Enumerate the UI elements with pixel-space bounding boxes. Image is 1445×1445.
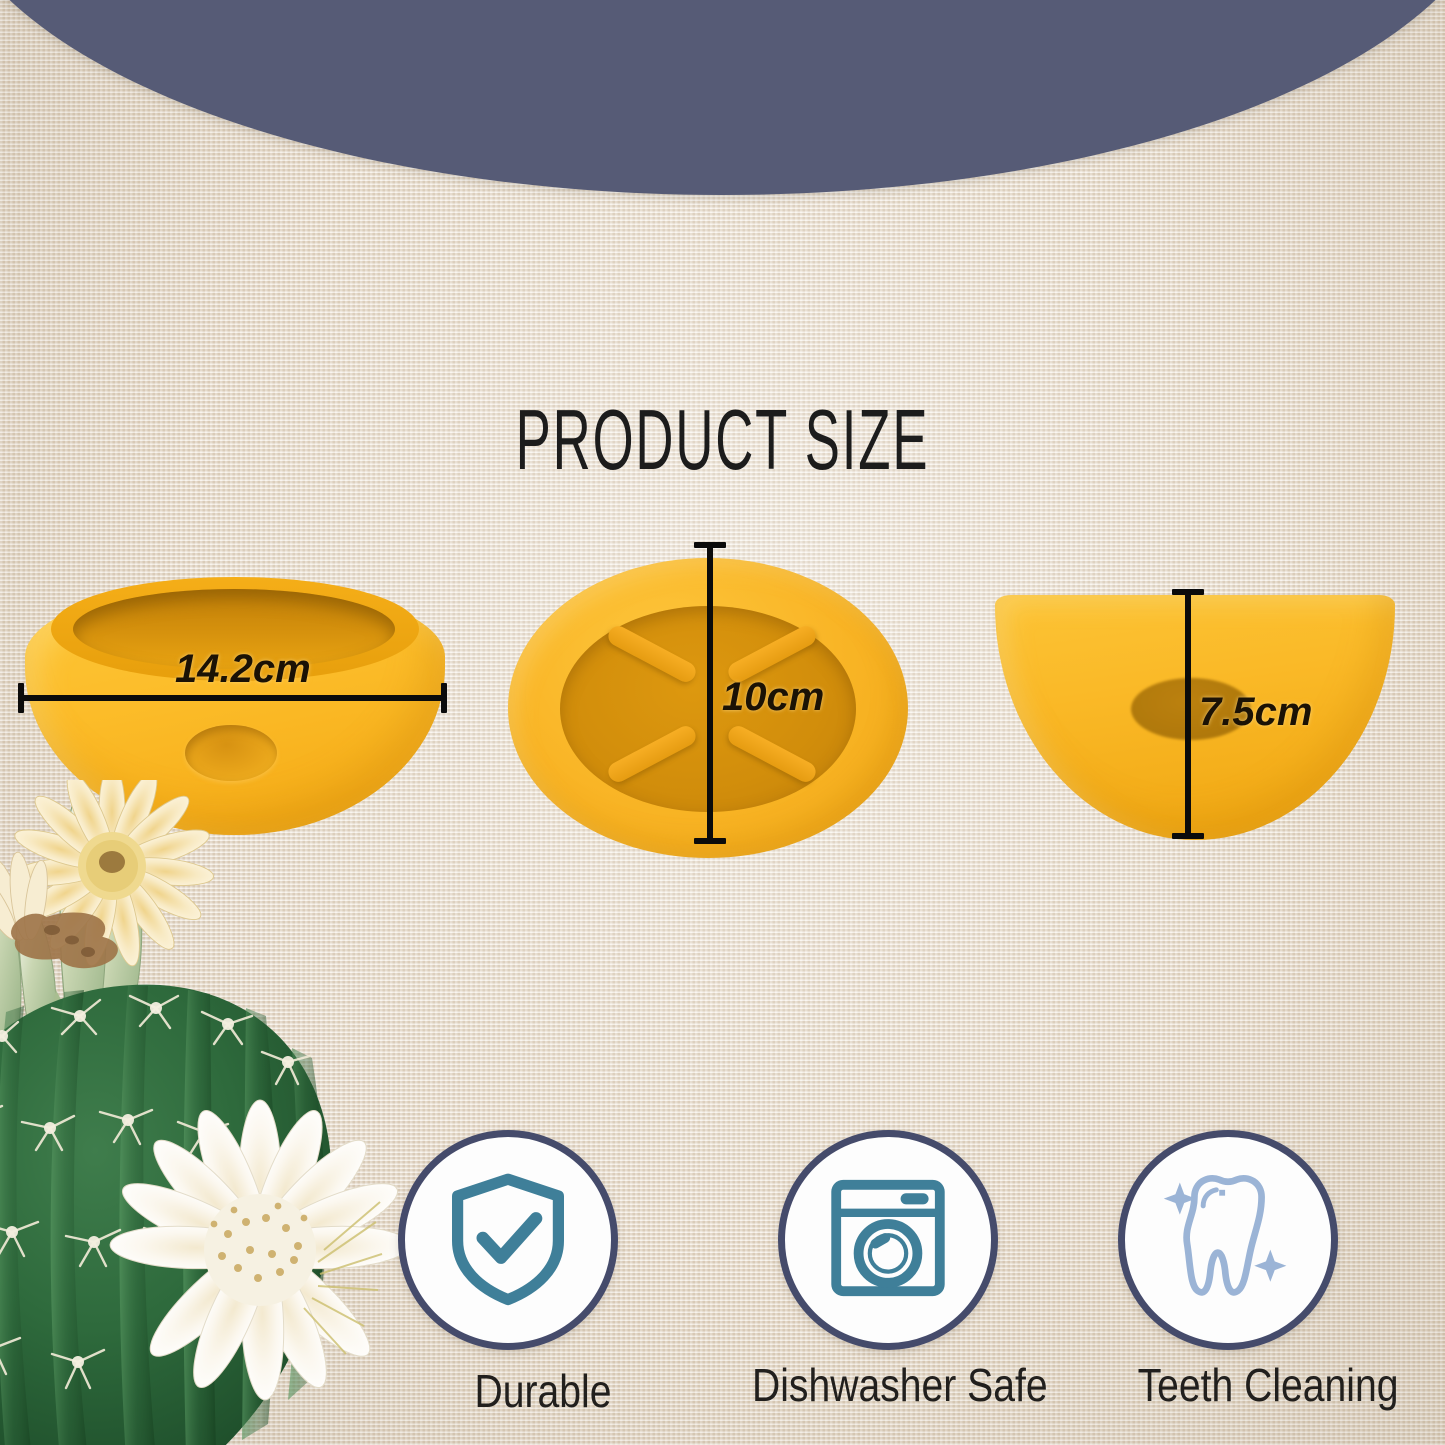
feature-label: Durable (418, 1364, 668, 1418)
dimension-cap-left-icon (18, 683, 24, 713)
tooth-sparkle-icon (1155, 1165, 1301, 1316)
dimension-label: 7.5cm (1199, 690, 1312, 735)
shield-check-icon (438, 1168, 578, 1313)
feature-label: Dishwasher Safe (752, 1358, 1024, 1412)
washing-machine-icon (818, 1168, 958, 1313)
page-title: PRODUCT SIZE (275, 398, 1171, 483)
dimension-cap-bottom-icon (1172, 833, 1204, 839)
dimension-line-icon (18, 695, 447, 701)
bowl-dimple (185, 725, 277, 781)
dimension-cap-top-icon (1172, 589, 1204, 595)
feature-icon-circle (1118, 1130, 1338, 1350)
feature-durable[interactable]: Durable (370, 1130, 690, 1418)
dimension-line-icon (707, 545, 713, 843)
dimension-line-icon (1185, 592, 1191, 838)
feature-icon-circle (778, 1130, 998, 1350)
feature-icon-circle (398, 1130, 618, 1350)
feature-teeth-cleaning[interactable]: Teeth Cleaning (1084, 1130, 1404, 1412)
feature-label: Teeth Cleaning (1138, 1358, 1383, 1412)
yellow-cactus-flower (0, 780, 215, 971)
dimension-cap-bottom-icon (694, 838, 726, 844)
dimension-cap-top-icon (694, 542, 726, 548)
feature-dishwasher-safe[interactable]: Dishwasher Safe (728, 1130, 1048, 1412)
dimension-label: 14.2cm (175, 647, 311, 692)
product-size-infographic: PRODUCT SIZE 14.2cm 10cm 7 (0, 0, 1445, 1445)
feature-badges: Durable Dishwasher Safe (360, 1128, 1445, 1445)
product-view-side-profile (995, 595, 1395, 840)
dimension-label: 10cm (722, 675, 824, 720)
dimension-cap-right-icon (441, 683, 447, 713)
